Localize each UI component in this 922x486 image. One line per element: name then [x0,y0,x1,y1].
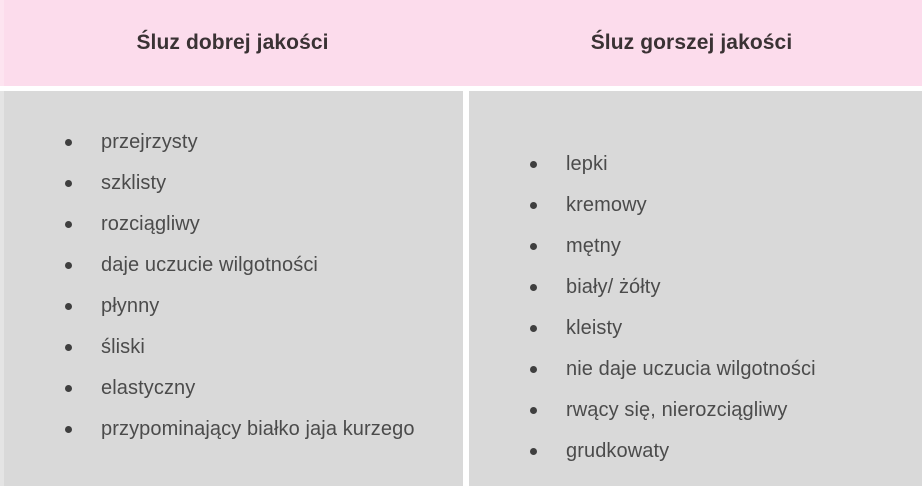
list-item-label: rwący się, nierozciągliwy [566,395,907,425]
bullet-icon [530,161,537,168]
list-item-label: biały/ żółty [566,272,907,302]
column-header-good-mucus: Śluz dobrej jakości [136,30,328,55]
list-item: rozciągliwy [62,209,442,239]
bullet-icon [530,284,537,291]
list-item-label: lepki [566,149,907,179]
list-item: biały/ żółty [527,272,907,302]
list-item-label: śliski [101,332,442,362]
list-item: lepki [527,149,907,179]
list-item: nie daje uczucia wilgotności [527,354,907,384]
list-item-label: grudkowaty [566,436,907,466]
bullet-icon [530,448,537,455]
list-item-label: kremowy [566,190,907,220]
bullet-icon [530,243,537,250]
list-item: przejrzysty [62,127,442,157]
table-body-row: przejrzysty szklisty rozciągliwy daje uc… [0,91,922,486]
body-cell-worse-mucus: lepki kremowy mętny biały/ żółty kleisty [469,91,922,486]
bullet-icon [530,325,537,332]
feature-list-good-mucus: przejrzysty szklisty rozciągliwy daje uc… [62,127,442,455]
list-item: rwący się, nierozciągliwy [527,395,907,425]
list-item-label: płynny [101,291,442,321]
list-item-label: rozciągliwy [101,209,442,239]
list-item-label: mętny [566,231,907,261]
table-header-row: Śluz dobrej jakości Śluz gorszej jakości [0,0,922,86]
feature-list-worse-mucus: lepki kremowy mętny biały/ żółty kleisty [527,149,907,477]
bullet-icon [65,180,72,187]
list-item: płynny [62,291,442,321]
bullet-icon [65,262,72,269]
list-item: mętny [527,231,907,261]
bullet-icon [65,426,72,433]
bullet-icon [530,407,537,414]
bullet-icon [65,385,72,392]
list-item: daje uczucie wilgotności [62,250,442,280]
bullet-icon [530,202,537,209]
header-cell-worse-mucus: Śluz gorszej jakości [461,0,922,86]
column-header-worse-mucus: Śluz gorszej jakości [591,30,793,55]
list-item: kleisty [527,313,907,343]
bullet-icon [65,221,72,228]
bullet-icon [65,303,72,310]
bullet-icon [65,139,72,146]
bullet-icon [530,366,537,373]
list-item-label: kleisty [566,313,907,343]
mucus-quality-comparison-table: Śluz dobrej jakości Śluz gorszej jakości… [0,0,922,486]
list-item: grudkowaty [527,436,907,466]
list-item-label: szklisty [101,168,442,198]
list-item: śliski [62,332,442,362]
list-item-label: daje uczucie wilgotności [101,250,442,280]
list-item: przypominający białko jaja kurzego [62,414,442,444]
list-item: elastyczny [62,373,442,403]
list-item-label: przypominający białko jaja kurzego [101,414,442,444]
bullet-icon [65,344,72,351]
list-item-label: elastyczny [101,373,442,403]
list-item-label: nie daje uczucia wilgotności [566,354,907,384]
list-item: szklisty [62,168,442,198]
header-cell-good-mucus: Śluz dobrej jakości [0,0,461,86]
list-item: kremowy [527,190,907,220]
body-cell-good-mucus: przejrzysty szklisty rozciągliwy daje uc… [0,91,463,486]
list-item-label: przejrzysty [101,127,442,157]
